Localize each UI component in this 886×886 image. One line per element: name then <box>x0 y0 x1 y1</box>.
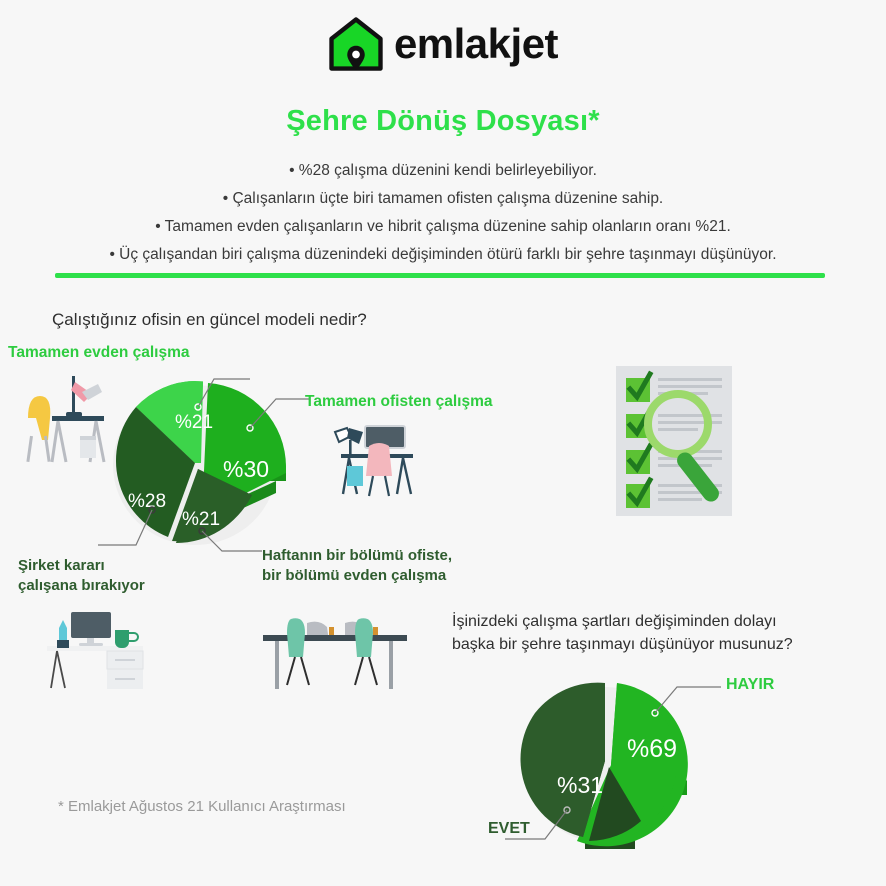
pie1-value-company: %28 <box>128 491 166 512</box>
pie1-value-home: %21 <box>175 412 213 433</box>
summary-bullets: • %28 çalışma düzenini kendi belirleyebi… <box>0 160 886 272</box>
question-2-line2: başka bir şehre taşınmayı düşünüyor musu… <box>452 633 872 656</box>
question-1: Çalıştığınız ofisin en güncel modeli ned… <box>52 310 367 330</box>
label-company-line1: Şirket kararı <box>18 556 145 576</box>
office-desk-illustration <box>325 418 417 498</box>
bullet-item: • Üç çalışandan biri çalışma düzenindeki… <box>0 244 886 266</box>
bullet-item: • Çalışanların üçte biri tamamen ofisten… <box>0 188 886 210</box>
pie2-value-hayir: %69 <box>627 735 677 763</box>
brand-name: emlakjet <box>394 23 558 65</box>
house-pin-icon <box>328 16 384 72</box>
label-hybrid-line1: Haftanın bir bölümü ofiste, <box>262 546 452 566</box>
label-hybrid-work: Haftanın bir bölümü ofiste, bir bölümü e… <box>262 546 452 587</box>
pie1-value-hybrid: %21 <box>182 509 220 530</box>
infographic-page: emlakjet Şehre Dönüş Dosyası* • %28 çalı… <box>0 0 886 886</box>
desk-monitor-illustration <box>35 602 151 690</box>
label-evet: EVET <box>488 820 530 838</box>
brand-logo: emlakjet <box>0 16 886 72</box>
section-divider <box>55 273 825 278</box>
question-2-line1: İşinizdeki çalışma şartları değişiminden… <box>452 610 872 633</box>
checklist-magnifier-illustration <box>608 362 740 522</box>
footnote: * Emlakjet Ağustos 21 Kullanıcı Araştırm… <box>58 798 346 815</box>
bullet-item: • Tamamen evden çalışanların ve hibrit ç… <box>0 216 886 238</box>
label-company-decides: Şirket kararı çalışana bırakıyor <box>18 556 145 597</box>
label-hayir: HAYIR <box>726 676 774 694</box>
meeting-table-illustration <box>255 605 415 691</box>
pie-chart-work-model: %21 %30 %28 %21 <box>90 355 310 555</box>
question-2: İşinizdeki çalışma şartları değişiminden… <box>452 610 872 656</box>
label-hybrid-line2: bir bölümü evden çalışma <box>262 566 452 586</box>
label-home-work: Tamamen evden çalışma <box>8 344 190 362</box>
page-title: Şehre Dönüş Dosyası* <box>0 105 886 138</box>
label-office-work: Tamamen ofisten çalışma <box>305 393 493 411</box>
pie-chart-relocation: %69 %31 <box>505 665 725 865</box>
bullet-item: • %28 çalışma düzenini kendi belirleyebi… <box>0 160 886 182</box>
label-company-line2: çalışana bırakıyor <box>18 576 145 596</box>
pie2-value-evet: %31 <box>557 772 603 798</box>
pie1-value-office: %30 <box>223 456 269 482</box>
